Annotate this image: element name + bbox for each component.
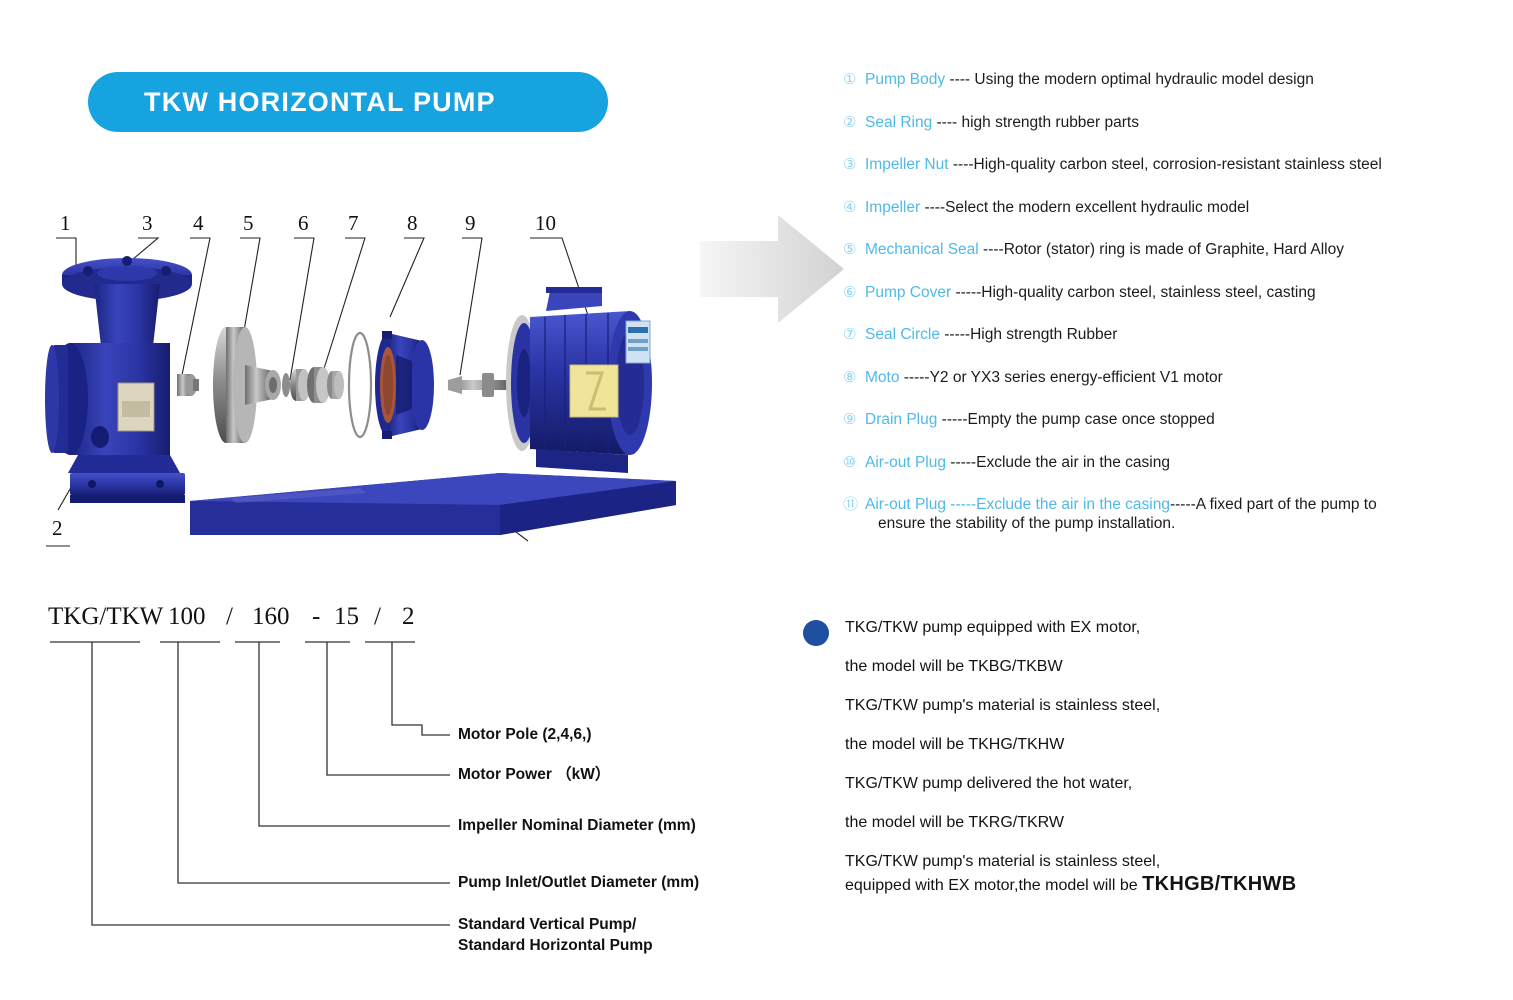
svg-text:7: 7	[348, 211, 359, 235]
legend-item: ⑥ Pump Cover -----High-quality carbon st…	[843, 283, 1503, 302]
leader-label-motor-power: Motor Power （kW）	[458, 765, 610, 784]
legend-number: ⑥	[843, 283, 865, 302]
flow-arrow-icon	[700, 213, 845, 325]
legend-part-name: Seal Ring	[865, 114, 932, 131]
legend-description-tail: -----A fixed part of the pump to	[1170, 496, 1377, 513]
legend-part-name: Air-out Plug	[865, 454, 946, 471]
legend-dash: ----	[979, 241, 1004, 258]
legend-description: Y2 or YX3 series energy-efficient V1 mot…	[930, 369, 1223, 386]
legend-item: ③ Impeller Nut ----High-quality carbon s…	[843, 155, 1503, 174]
legend-number: ⑧	[843, 368, 865, 387]
note-last-model: TKHGB/TKHWB	[1142, 873, 1296, 895]
note-last-prefix: equipped with EX motor,the model will be	[845, 877, 1142, 894]
note-line: the model will be TKBG/TKBW	[845, 657, 1485, 676]
legend-description: Empty the pump case once stopped	[968, 411, 1215, 428]
legend-part-name: Pump Cover	[865, 284, 951, 301]
legend-item: ⑨ Drain Plug -----Empty the pump case on…	[843, 410, 1503, 429]
legend-description-alt: Exclude the air in the casing	[976, 496, 1170, 513]
legend-part-name: Seal Circle	[865, 326, 940, 343]
legend-description: High strength Rubber	[970, 326, 1117, 343]
legend-description: Rotor (stator) ring is made of Graphite,…	[1004, 241, 1344, 258]
legend-description: Exclude the air in the casing	[976, 454, 1170, 471]
svg-text:6: 6	[298, 211, 309, 235]
svg-text:8: 8	[407, 211, 418, 235]
legend-dash: -----	[951, 284, 981, 301]
legend-description: High-quality carbon steel, stainless ste…	[981, 284, 1315, 301]
svg-text:2: 2	[52, 516, 63, 540]
legend-number: ②	[843, 113, 865, 132]
leader-label-impeller-dia: Impeller Nominal Diameter (mm)	[458, 816, 696, 835]
pump-exploded-diagram: 1 3 4 5 6 7 8 9 10	[30, 205, 690, 575]
note-line: the model will be TKHG/TKHW	[845, 735, 1485, 754]
svg-text:10: 10	[535, 211, 556, 235]
legend-dash: ----	[949, 156, 974, 173]
legend-part-name: Drain Plug	[865, 411, 937, 428]
parts-legend: ① Pump Body ---- Using the modern optima…	[843, 70, 1503, 557]
legend-dash: -----	[946, 454, 976, 471]
legend-part-name: Pump Body	[865, 71, 945, 88]
svg-text:5: 5	[243, 211, 254, 235]
legend-item: ⑧ Moto -----Y2 or YX3 series energy-effi…	[843, 368, 1503, 387]
legend-dash: -----	[937, 411, 967, 428]
legend-item: ① Pump Body ---- Using the modern optima…	[843, 70, 1503, 89]
svg-text:4: 4	[193, 211, 204, 235]
legend-item: ② Seal Ring ---- high strength rubber pa…	[843, 113, 1503, 132]
note-line: TKG/TKW pump delivered the hot water,	[845, 774, 1485, 793]
legend-dash: ----	[920, 199, 945, 216]
note-line-last: equipped with EX motor,the model will be…	[845, 875, 1485, 895]
pump-spec-sheet: TKW HORIZONTAL PUMP	[0, 0, 1513, 1000]
legend-number: ①	[843, 70, 865, 89]
legend-item: ⑩ Air-out Plug -----Exclude the air in t…	[843, 453, 1503, 472]
note-line: TKG/TKW pump's material is stainless ste…	[845, 852, 1485, 871]
note-line: TKG/TKW pump equipped with EX motor,	[845, 618, 1485, 637]
legend-part-name: Mechanical Seal	[865, 241, 979, 258]
legend-number: ⑤	[843, 240, 865, 259]
legend-part-name: Air-out Plug	[865, 496, 946, 513]
legend-item: ④ Impeller ----Select the modern excelle…	[843, 198, 1503, 217]
legend-dash: ----	[932, 114, 961, 131]
legend-description: high strength rubber parts	[961, 114, 1139, 131]
legend-description: Select the modern excellent hydraulic mo…	[945, 199, 1249, 216]
legend-dash: ----	[945, 71, 974, 88]
leader-label-standard-horizontal: Standard Horizontal Pump	[458, 936, 653, 955]
legend-item: ⑦ Seal Circle -----High strength Rubber	[843, 325, 1503, 344]
legend-part-name: Impeller Nut	[865, 156, 949, 173]
legend-dash: -----	[946, 496, 976, 513]
legend-number: ③	[843, 155, 865, 174]
leader-label-standard-vertical: Standard Vertical Pump/	[458, 915, 636, 934]
legend-number: ⑦	[843, 325, 865, 344]
legend-number: ⑪	[843, 495, 865, 514]
legend-number: ④	[843, 198, 865, 217]
bullet-dot-icon	[803, 620, 829, 646]
note-line: TKG/TKW pump's material is stainless ste…	[845, 696, 1485, 715]
legend-dash: -----	[899, 369, 929, 386]
legend-part-name: Moto	[865, 369, 899, 386]
legend-number: ⑩	[843, 453, 865, 472]
model-variant-notes: TKG/TKW pump equipped with EX motor, the…	[845, 618, 1485, 915]
legend-description: Using the modern optimal hydraulic model…	[974, 71, 1313, 88]
legend-number: ⑨	[843, 410, 865, 429]
page-title: TKW HORIZONTAL PUMP	[144, 87, 496, 118]
svg-text:3: 3	[142, 211, 153, 235]
leader-label-inlet-dia: Pump Inlet/Outlet Diameter (mm)	[458, 873, 699, 892]
legend-description-line2: ensure the stability of the pump install…	[878, 514, 1377, 533]
legend-item: ⑪ Air-out Plug -----Exclude the air in t…	[843, 495, 1503, 533]
note-line: the model will be TKRG/TKRW	[845, 813, 1485, 832]
legend-dash: -----	[940, 326, 970, 343]
model-code-breakdown: TKG/TKW 100 / 160 - 15 / 2	[30, 595, 730, 965]
legend-item: ⑤ Mechanical Seal ----Rotor (stator) rin…	[843, 240, 1503, 259]
svg-text:1: 1	[60, 211, 71, 235]
legend-part-name: Impeller	[865, 199, 920, 216]
leader-label-motor-pole: Motor Pole (2,4,6,)	[458, 725, 592, 744]
page-title-banner: TKW HORIZONTAL PUMP	[88, 72, 608, 132]
legend-description: High-quality carbon steel, corrosion-res…	[974, 156, 1382, 173]
svg-text:9: 9	[465, 211, 476, 235]
